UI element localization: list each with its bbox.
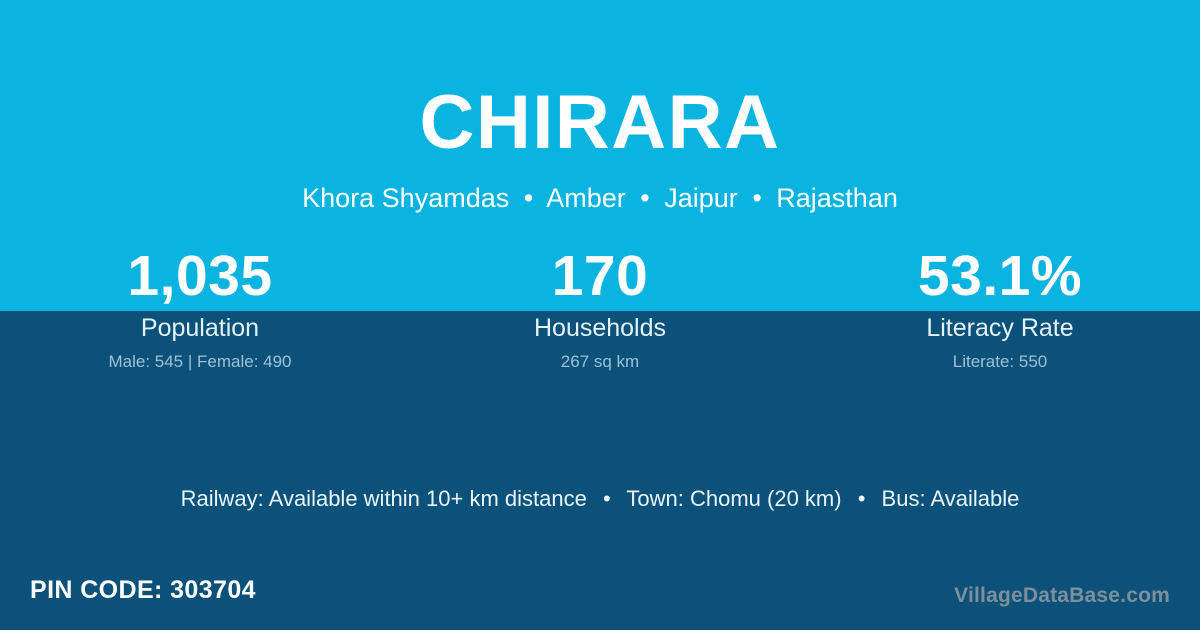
stat-sublabel: Male: 545 | Female: 490 [0,352,400,372]
stat-literacy-rate: 53.1% Literacy Rate Literate: 550 [800,244,1200,372]
infra-railway: Railway: Available within 10+ km distanc… [181,486,587,511]
stat-value: 170 [400,244,800,310]
breadcrumb-separator: • [745,183,768,213]
stat-label: Population [0,313,400,343]
breadcrumb-state: Rajasthan [776,183,898,213]
page-title: CHIRARA [0,85,1200,161]
breadcrumb-village: Khora Shyamdas [302,183,509,213]
breadcrumb-block: Amber [546,183,626,213]
stat-population: 1,035 Population Male: 545 | Female: 490 [0,244,400,372]
breadcrumb-separator: • [517,183,540,213]
stat-label: Literacy Rate [800,313,1200,343]
infra-town: Town: Chomu (20 km) [626,486,841,511]
stat-value: 53.1% [800,244,1200,310]
breadcrumb: Khora Shyamdas • Amber • Jaipur • Rajast… [0,182,1200,214]
infra-separator: • [848,486,876,511]
site-watermark: VillageDataBase.com [954,583,1170,608]
breadcrumb-separator: • [633,183,656,213]
stat-sublabel: Literate: 550 [800,352,1200,372]
infrastructure-line: Railway: Available within 10+ km distanc… [0,485,1200,514]
stat-households: 170 Households 267 sq km [400,244,800,372]
stat-label: Households [400,313,800,343]
breadcrumb-district: Jaipur [664,183,738,213]
infra-bus: Bus: Available [882,486,1020,511]
pin-code: PIN CODE: 303704 [30,575,256,605]
village-info-card: CHIRARA Khora Shyamdas • Amber • Jaipur … [0,0,1200,630]
stat-sublabel: 267 sq km [400,352,800,372]
stat-value: 1,035 [0,244,400,310]
infra-separator: • [593,486,621,511]
stats-row: 1,035 Population Male: 545 | Female: 490… [0,244,1200,372]
